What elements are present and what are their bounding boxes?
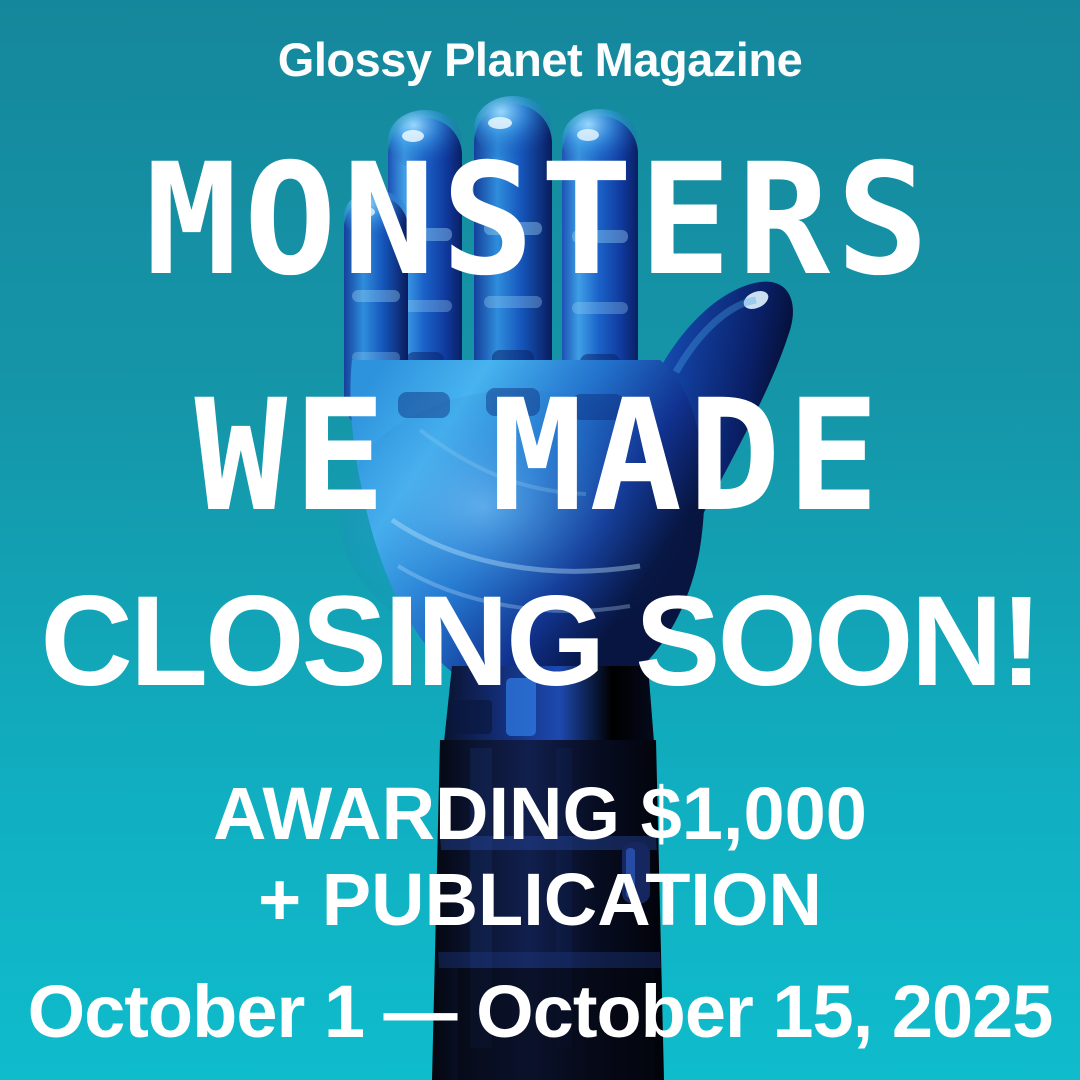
- submission-dates: October 1 — October 15, 2025: [0, 975, 1080, 1049]
- title-line-1: MONSTERS: [0, 146, 1080, 297]
- award-publication-line: + PUBLICATION: [0, 862, 1080, 937]
- title-line-2: WE MADE: [0, 382, 1080, 533]
- promo-poster: Glossy Planet Magazine MONSTERS WE MADE …: [0, 0, 1080, 1080]
- magazine-masthead: Glossy Planet Magazine: [0, 36, 1080, 83]
- award-amount-line: AWARDING $1,000: [0, 776, 1080, 851]
- status-headline: CLOSING SOON!: [0, 578, 1080, 706]
- poster-text-layer: Glossy Planet Magazine MONSTERS WE MADE …: [0, 0, 1080, 1080]
